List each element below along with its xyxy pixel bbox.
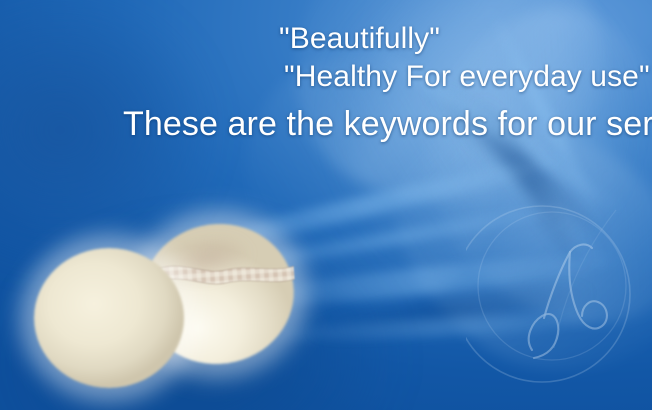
headline-line-2: "Healthy For everyday use" (284, 60, 650, 94)
promotional-banner: "Beautifully" "Healthy For everyday use"… (0, 0, 652, 410)
headline-line-1: "Beautifully" (279, 22, 440, 56)
cotton-pads-group (30, 218, 300, 393)
cotton-pad-front (34, 248, 184, 388)
headline-line-3: These are the keywords for our service. (123, 105, 652, 144)
